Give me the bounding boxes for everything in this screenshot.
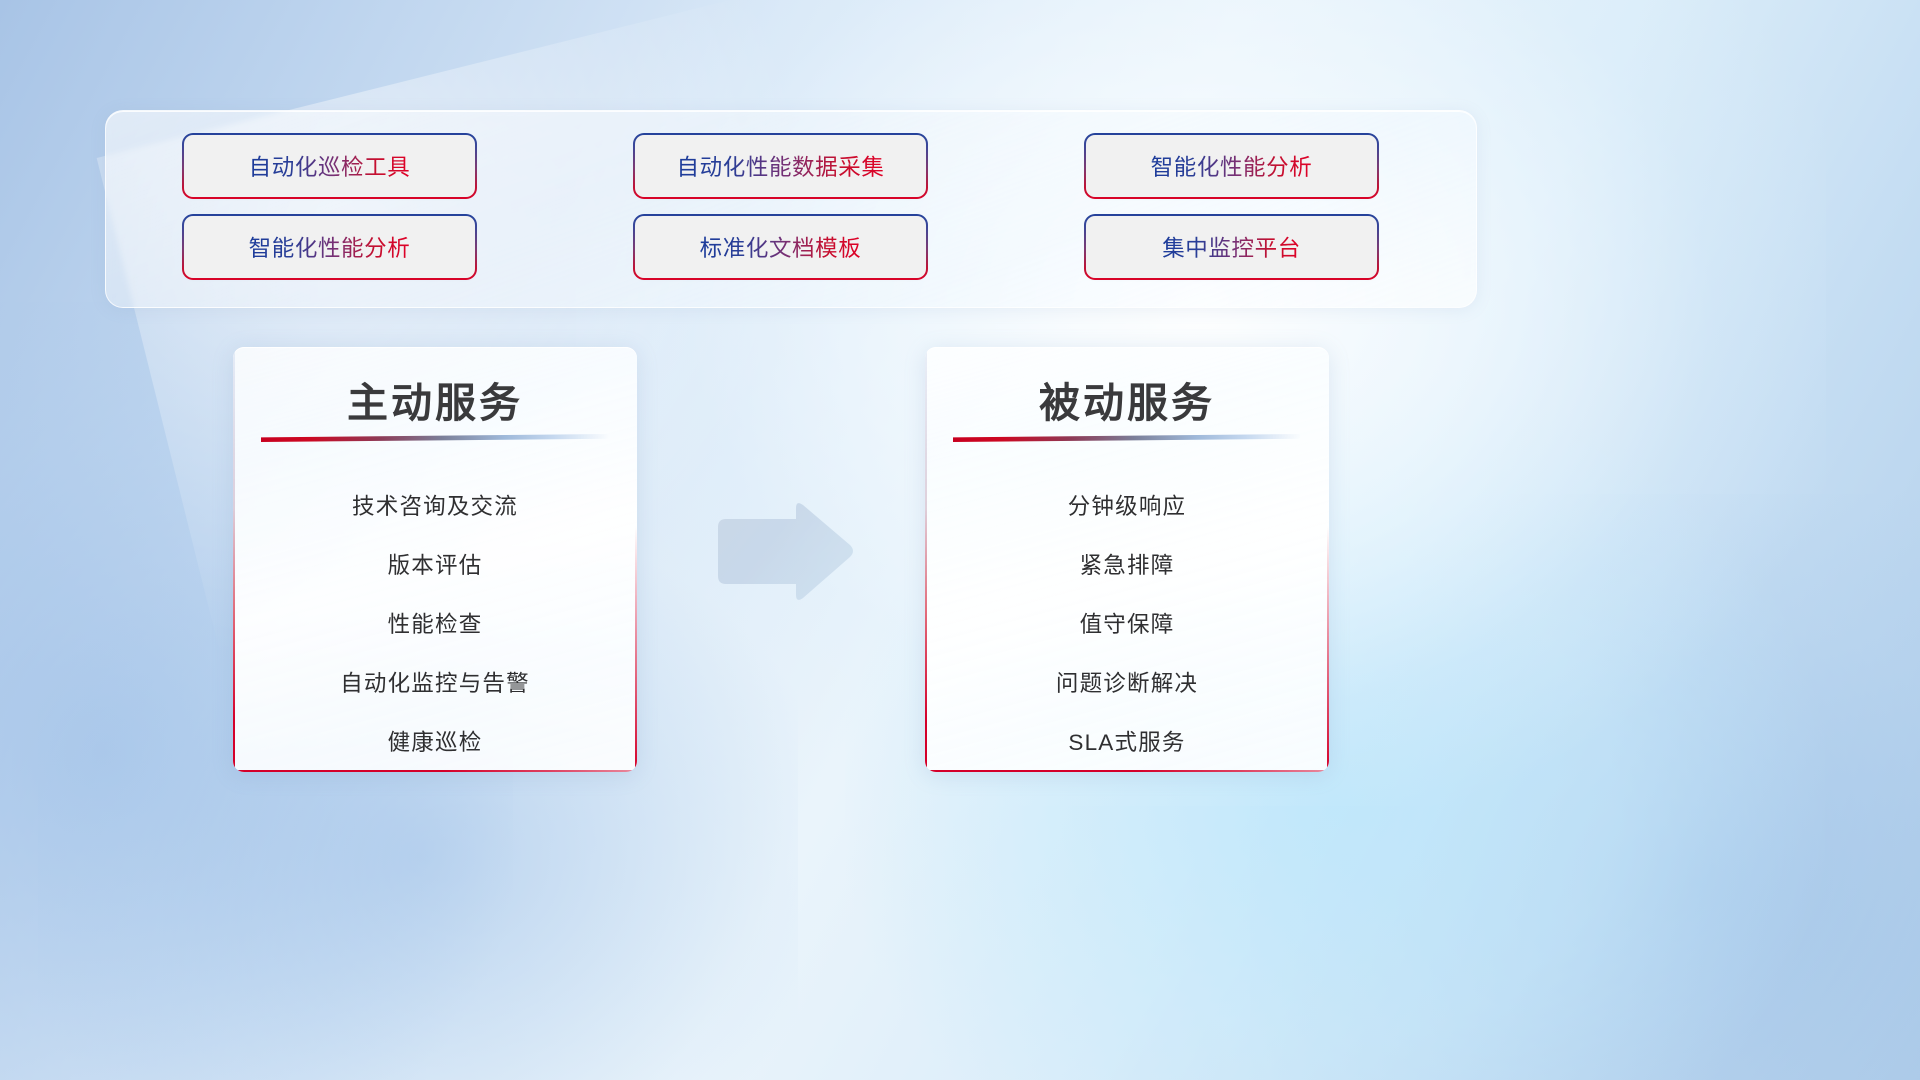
card-item-list: 技术咨询及交流 版本评估 性能检查 自动化监控与告警 健康巡检	[233, 477, 637, 772]
card-divider	[261, 434, 609, 442]
card-list-item: 技术咨询及交流	[233, 477, 637, 536]
card-divider	[953, 434, 1301, 442]
slide-canvas: 自动化巡检工具 自动化性能数据采集 智能化性能分析 智能化性能分析 标准化文档模…	[0, 0, 1920, 1080]
card-list-item: 版本评估	[233, 536, 637, 595]
card-title: 被动服务	[925, 369, 1329, 429]
card-list-item: 健康巡检	[233, 713, 637, 772]
capability-tag[interactable]: 集中监控平台	[1086, 216, 1377, 278]
card-list-item: 分钟级响应	[925, 477, 1329, 536]
arrow-right-icon	[712, 500, 855, 604]
card-list-item: 问题诊断解决	[925, 654, 1329, 713]
capability-tag[interactable]: 标准化文档模板	[635, 216, 926, 278]
capability-tag-label: 自动化性能数据采集	[677, 150, 885, 182]
service-card-reactive[interactable]: 被动服务 分钟级响应 紧急排障 值守保障 问题诊断解决 SLA式服务	[925, 347, 1329, 772]
capability-tag-grid: 自动化巡检工具 自动化性能数据采集 智能化性能分析 智能化性能分析 标准化文档模…	[184, 135, 1399, 278]
capability-panel: 自动化巡检工具 自动化性能数据采集 智能化性能分析 智能化性能分析 标准化文档模…	[105, 110, 1477, 308]
capability-tag[interactable]: 智能化性能分析	[1086, 135, 1377, 197]
card-list-item: 值守保障	[925, 595, 1329, 654]
capability-tag[interactable]: 自动化性能数据采集	[635, 135, 926, 197]
capability-tag-label: 智能化性能分析	[249, 231, 411, 263]
card-list-item: 自动化监控与告警	[233, 654, 637, 713]
capability-tag-label: 集中监控平台	[1162, 231, 1301, 263]
capability-tag[interactable]: 智能化性能分析	[184, 216, 475, 278]
service-card-proactive[interactable]: 主动服务 技术咨询及交流 版本评估 性能检查 自动化监控与告警 健康巡检	[233, 347, 637, 772]
card-list-item: SLA式服务	[925, 713, 1329, 772]
capability-tag[interactable]: 自动化巡检工具	[184, 135, 475, 197]
card-list-item: 紧急排障	[925, 536, 1329, 595]
capability-tag-label: 智能化性能分析	[1151, 150, 1313, 182]
card-list-item: 性能检查	[233, 595, 637, 654]
card-item-list: 分钟级响应 紧急排障 值守保障 问题诊断解决 SLA式服务	[925, 477, 1329, 772]
capability-tag-label: 标准化文档模板	[700, 231, 862, 263]
card-title: 主动服务	[233, 369, 637, 429]
capability-tag-label: 自动化巡检工具	[249, 150, 411, 182]
